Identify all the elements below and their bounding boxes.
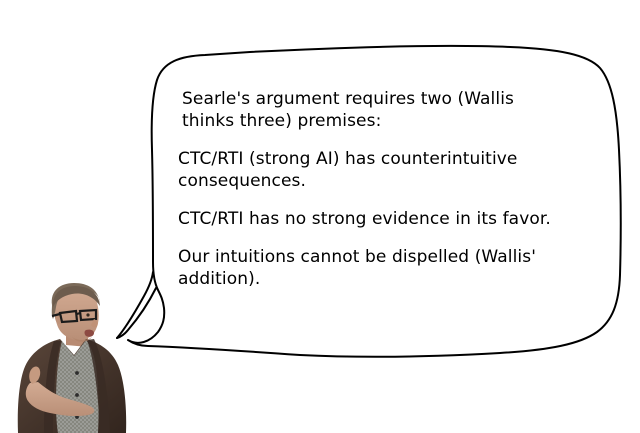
bubble-line: CTC/RTI has no strong evidence in its fa… xyxy=(178,209,551,229)
mouth-shape xyxy=(85,330,95,337)
bubble-line: addition). xyxy=(178,269,260,289)
bubble-line: thinks three) premises: xyxy=(182,111,381,131)
bubble-line: CTC/RTI (strong AI) has counterintuitive xyxy=(178,149,517,169)
eye xyxy=(86,313,89,316)
shirt-button xyxy=(75,371,79,375)
speaker-photo xyxy=(14,283,138,433)
shirt-button xyxy=(75,393,79,397)
bubble-paragraph-premises-intro: Searle's argument requires two (Wallis t… xyxy=(182,88,598,132)
bubble-paragraph-premise-3: Our intuitions cannot be dispelled (Wall… xyxy=(178,246,598,290)
bubble-line: Searle's argument requires two (Wallis xyxy=(182,89,514,109)
slide-canvas: Searle's argument requires two (Wallis t… xyxy=(0,0,640,433)
bubble-line: consequences. xyxy=(178,171,306,191)
bubble-paragraph-premise-2: CTC/RTI has no strong evidence in its fa… xyxy=(178,208,598,230)
bubble-paragraph-premise-1: CTC/RTI (strong AI) has counterintuitive… xyxy=(178,148,598,192)
bubble-line: Our intuitions cannot be dispelled (Wall… xyxy=(178,247,536,267)
speech-bubble-text: Searle's argument requires two (Wallis t… xyxy=(178,88,598,290)
speaking-person-icon xyxy=(14,283,138,433)
